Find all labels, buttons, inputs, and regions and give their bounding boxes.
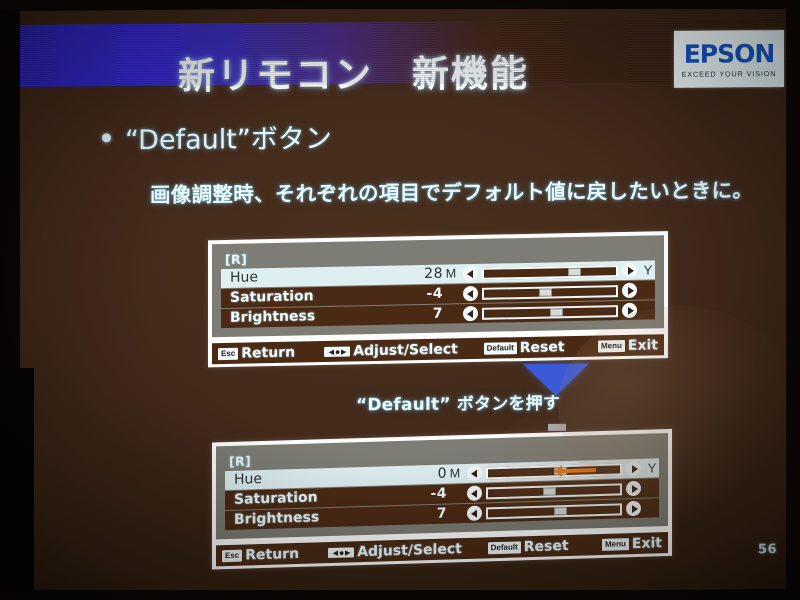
osd-row-label: Brightness: [221, 306, 371, 328]
epson-logo: EPSON EXCEED YOUR VISION: [674, 30, 784, 88]
osd-slider-thumb[interactable]: [543, 487, 556, 495]
increase-arrow-icon[interactable]: [622, 263, 637, 278]
default-key-icon: Default: [484, 342, 517, 355]
status-return-label: Return: [241, 344, 295, 361]
osd-slider-thumb[interactable]: [550, 308, 563, 316]
esc-key-icon: Esc: [218, 347, 238, 359]
osd-slider-track[interactable]: [486, 463, 622, 479]
status-reset-before[interactable]: Default Reset: [484, 339, 565, 357]
osd-status-bar-before: Esc Return ◄●► Adjust/Select Default Res…: [212, 334, 664, 364]
osd-row-label: Brightness: [225, 507, 375, 530]
status-return-after[interactable]: Esc Return: [222, 545, 299, 563]
slide-description: 画像調整時、それぞれの項目でデフォルト値に戻したいときに。: [150, 173, 753, 208]
photo-edge-bottom: [0, 590, 800, 600]
increase-arrow-icon[interactable]: [622, 283, 637, 298]
menu-key-icon: Menu: [602, 538, 629, 551]
osd-row-tail: Y: [641, 260, 655, 279]
decrease-arrow-icon[interactable]: [463, 266, 478, 281]
osd-row-suffix: M: [447, 464, 463, 483]
osd-row-value: 7: [371, 305, 443, 325]
status-exit-label: Exit: [632, 535, 662, 552]
osd-panel-after: [R] Hue 0 M Y: [212, 429, 672, 570]
osd-row-value: 28: [371, 265, 443, 285]
status-adjust-before[interactable]: ◄●► Adjust/Select: [324, 341, 458, 360]
default-key-icon: Default: [488, 541, 521, 554]
decrease-arrow-icon[interactable]: [463, 306, 478, 321]
osd-row-value: 0: [375, 465, 447, 486]
osd-row-label: Saturation: [221, 286, 371, 308]
status-reset-label: Reset: [520, 339, 565, 356]
status-reset-label: Reset: [524, 537, 569, 554]
photo-edge-left-lower: [0, 368, 34, 600]
osd-slider-track[interactable]: [482, 285, 618, 300]
osd-rows-before: Hue 28 M Y Saturation -4: [221, 260, 655, 328]
osd-body-before: [R] Hue 28 M Y Saturation: [212, 235, 664, 337]
epson-tagline: EXCEED YOUR VISION: [674, 69, 784, 79]
menu-key-icon: Menu: [598, 339, 625, 352]
epson-wordmark: EPSON: [674, 41, 784, 67]
increase-arrow-icon[interactable]: [626, 461, 641, 476]
status-exit-label: Exit: [628, 337, 658, 354]
osd-slider-thumb[interactable]: [554, 506, 567, 514]
osd-row-value: 7: [375, 505, 447, 526]
bullet-dot-icon: [102, 133, 111, 142]
osd-slider-track[interactable]: [486, 483, 622, 499]
osd-row-tail: Y: [645, 458, 659, 477]
increase-arrow-icon[interactable]: [626, 481, 641, 496]
triangle-notch: [548, 424, 566, 431]
esc-key-icon: Esc: [222, 549, 242, 562]
osd-row-label: Hue: [221, 266, 371, 288]
projected-slide-photo: 新リモコン 新機能 EPSON EXCEED YOUR VISION “Defa…: [0, 0, 800, 600]
status-return-before[interactable]: Esc Return: [218, 344, 295, 362]
osd-row-value: -4: [371, 285, 443, 305]
status-adjust-after[interactable]: ◄●► Adjust/Select: [328, 541, 462, 561]
decrease-arrow-icon[interactable]: [467, 506, 482, 521]
osd-rows-after: Hue 0 M Y Satur: [225, 458, 659, 530]
decrease-arrow-icon[interactable]: [463, 286, 478, 301]
osd-body-after: [R] Hue 0 M Y: [216, 433, 668, 539]
decrease-arrow-icon[interactable]: [467, 466, 482, 481]
status-adjust-label: Adjust/Select: [353, 341, 458, 359]
osd-slider-thumb[interactable]: [568, 267, 581, 275]
status-exit-before[interactable]: Menu Exit: [598, 337, 658, 354]
reset-motion-arrow-icon: [554, 466, 596, 475]
status-return-label: Return: [245, 545, 299, 563]
osd-panel-before: [R] Hue 28 M Y Saturation: [208, 231, 668, 367]
status-exit-after[interactable]: Menu Exit: [602, 535, 662, 553]
slide-surface: 新リモコン 新機能 EPSON EXCEED YOUR VISION “Defa…: [18, 5, 790, 595]
middle-caption: “Default” ボタンを押す: [356, 389, 560, 416]
arrow-keys-icon: ◄●►: [324, 346, 350, 357]
status-adjust-label: Adjust/Select: [357, 541, 462, 560]
osd-slider-track[interactable]: [482, 265, 618, 280]
arrow-keys-icon: ◄●►: [328, 547, 354, 558]
bullet-heading: “Default”ボタン: [102, 117, 332, 158]
page-title: 新リモコン 新機能: [178, 42, 638, 100]
photo-edge-right: [786, 0, 800, 600]
page-number: 56: [758, 542, 777, 557]
osd-slider-track[interactable]: [482, 305, 618, 320]
increase-arrow-icon[interactable]: [622, 303, 637, 318]
status-reset-after[interactable]: Default Reset: [488, 537, 569, 555]
bullet-heading-label: “Default”ボタン: [125, 117, 332, 158]
osd-slider-track[interactable]: [486, 503, 622, 519]
photo-edge-top: [0, 0, 800, 9]
increase-arrow-icon[interactable]: [626, 501, 641, 516]
osd-slider-thumb[interactable]: [539, 288, 552, 296]
osd-row-value: -4: [375, 485, 447, 506]
osd-row-suffix: M: [443, 264, 459, 283]
decrease-arrow-icon[interactable]: [467, 486, 482, 501]
